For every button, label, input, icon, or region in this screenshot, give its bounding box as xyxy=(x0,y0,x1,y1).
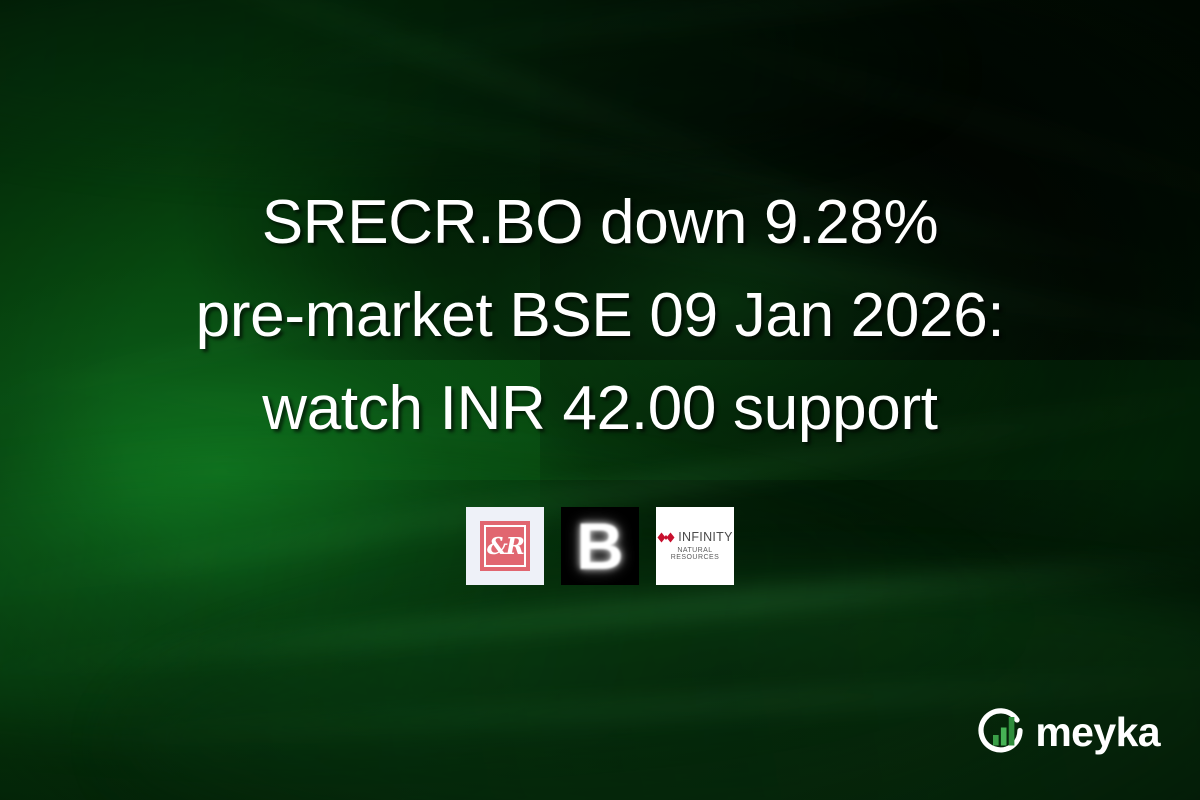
infinity-logo-wrap: INFINITY NATURAL RESOURCES xyxy=(656,531,734,561)
headline-line-3: watch INR 42.00 support xyxy=(30,362,1170,455)
headline-line-1: SRECR.BO down 9.28% xyxy=(30,176,1170,269)
letter-b-glyph: B xyxy=(576,513,624,579)
infinity-diamond-icon xyxy=(657,532,675,543)
headline-line-2: pre-market BSE 09 Jan 2026: xyxy=(30,269,1170,362)
infinity-logo-top-row: INFINITY xyxy=(657,531,732,544)
company-logo-row: &R B INFINITY NATURAL RESOURCES xyxy=(0,507,1200,585)
meyka-bar-chart-ring-icon xyxy=(978,708,1026,756)
company-logo-script-monogram: &R xyxy=(466,507,544,585)
infinity-logo-title: INFINITY xyxy=(678,531,732,544)
company-logo-letter-b: B xyxy=(561,507,639,585)
monogram-badge: &R xyxy=(480,521,530,571)
brand-wordmark: meyka xyxy=(1035,712,1160,753)
headline-block: SRECR.BO down 9.28% pre-market BSE 09 Ja… xyxy=(0,176,1200,455)
monogram-glyph: &R xyxy=(484,525,526,567)
market-news-card: SRECR.BO down 9.28% pre-market BSE 09 Ja… xyxy=(0,0,1200,800)
infinity-logo-subtitle: NATURAL RESOURCES xyxy=(657,547,732,561)
brand-lockup: meyka xyxy=(978,708,1160,756)
company-logo-infinity-natural-resources: INFINITY NATURAL RESOURCES xyxy=(656,507,734,585)
